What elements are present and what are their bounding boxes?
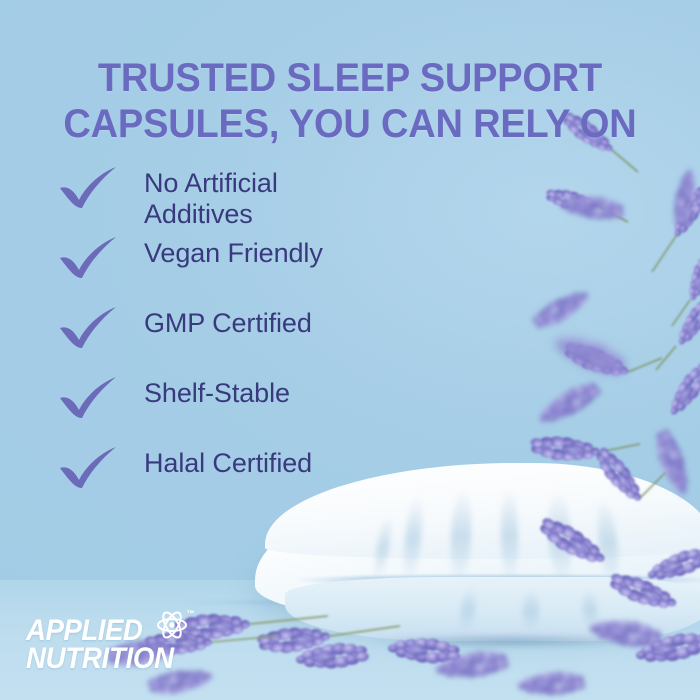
page-title: TRUSTED SLEEP SUPPORT CAPSULES, YOU CAN … — [18, 55, 683, 147]
list-item-label: GMP Certified — [144, 302, 312, 339]
checkmark-icon — [58, 444, 120, 490]
list-item: GMP Certified — [58, 302, 458, 372]
list-item-label: Vegan Friendly — [144, 232, 323, 269]
list-item-label: Halal Certified — [144, 442, 312, 479]
product-benefits-poster: TRUSTED SLEEP SUPPORT CAPSULES, YOU CAN … — [0, 0, 700, 700]
list-item: Vegan Friendly — [58, 232, 458, 302]
page-title-line-2: CAPSULES, YOU CAN RELY ON — [18, 101, 683, 147]
page-title-line-1: TRUSTED SLEEP SUPPORT — [18, 55, 683, 101]
benefits-list: No Artificial Additives Vegan Friendly G… — [58, 162, 458, 512]
list-item: Shelf-Stable — [58, 372, 458, 442]
trademark-symbol: ™ — [187, 610, 195, 618]
brand-name-line-2: NUTRITION — [26, 644, 176, 674]
brand-logo: APPLIED ™ NUTRITION — [26, 616, 189, 674]
list-item-label: Shelf-Stable — [144, 372, 290, 409]
pillow-shadow — [315, 633, 700, 649]
list-item: Halal Certified — [58, 442, 458, 512]
checkmark-icon — [58, 304, 120, 350]
checkmark-icon — [58, 164, 120, 210]
list-item-label: No Artificial Additives — [144, 162, 278, 230]
checkmark-icon — [58, 374, 120, 420]
list-item: No Artificial Additives — [58, 162, 458, 232]
pillow-lower-half — [285, 577, 700, 641]
checkmark-icon — [58, 234, 120, 280]
atom-icon: ™ — [155, 610, 189, 644]
